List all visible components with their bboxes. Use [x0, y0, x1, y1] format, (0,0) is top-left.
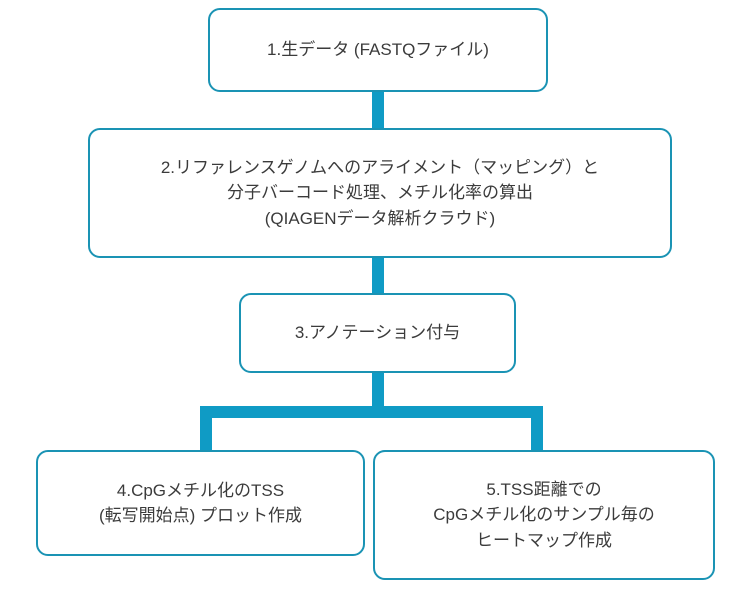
flowchart-node-step-3[interactable]: 3.アノテーション付与	[239, 293, 516, 373]
connector-step2-to-step3	[372, 254, 384, 297]
flowchart-node-step-2[interactable]: 2.リファレンスゲノムへのアライメント（マッピング）と 分子バーコード処理、メチ…	[88, 128, 672, 258]
connector-split-to-step5	[531, 406, 543, 454]
flowchart-node-step-1[interactable]: 1.生データ (FASTQファイル)	[208, 8, 548, 92]
flowchart-canvas: 1.生データ (FASTQファイル) 2.リファレンスゲノムへのアライメント（マ…	[0, 0, 738, 592]
flowchart-node-step-5[interactable]: 5.TSS距離での CpGメチル化のサンプル毎の ヒートマップ作成	[373, 450, 715, 580]
connector-step1-to-step2	[372, 88, 384, 132]
flowchart-node-step-3-label: 3.アノテーション付与	[251, 320, 504, 346]
flowchart-node-step-4-label: 4.CpGメチル化のTSS (転写開始点) プロット作成	[48, 478, 353, 529]
flowchart-node-step-2-label: 2.リファレンスゲノムへのアライメント（マッピング）と 分子バーコード処理、メチ…	[100, 155, 660, 232]
connector-split-horizontal-bar	[200, 406, 543, 418]
flowchart-node-step-5-label: 5.TSS距離での CpGメチル化のサンプル毎の ヒートマップ作成	[385, 477, 703, 554]
flowchart-node-step-1-label: 1.生データ (FASTQファイル)	[220, 37, 536, 63]
connector-split-to-step4	[200, 406, 212, 454]
flowchart-node-step-4[interactable]: 4.CpGメチル化のTSS (転写開始点) プロット作成	[36, 450, 365, 556]
